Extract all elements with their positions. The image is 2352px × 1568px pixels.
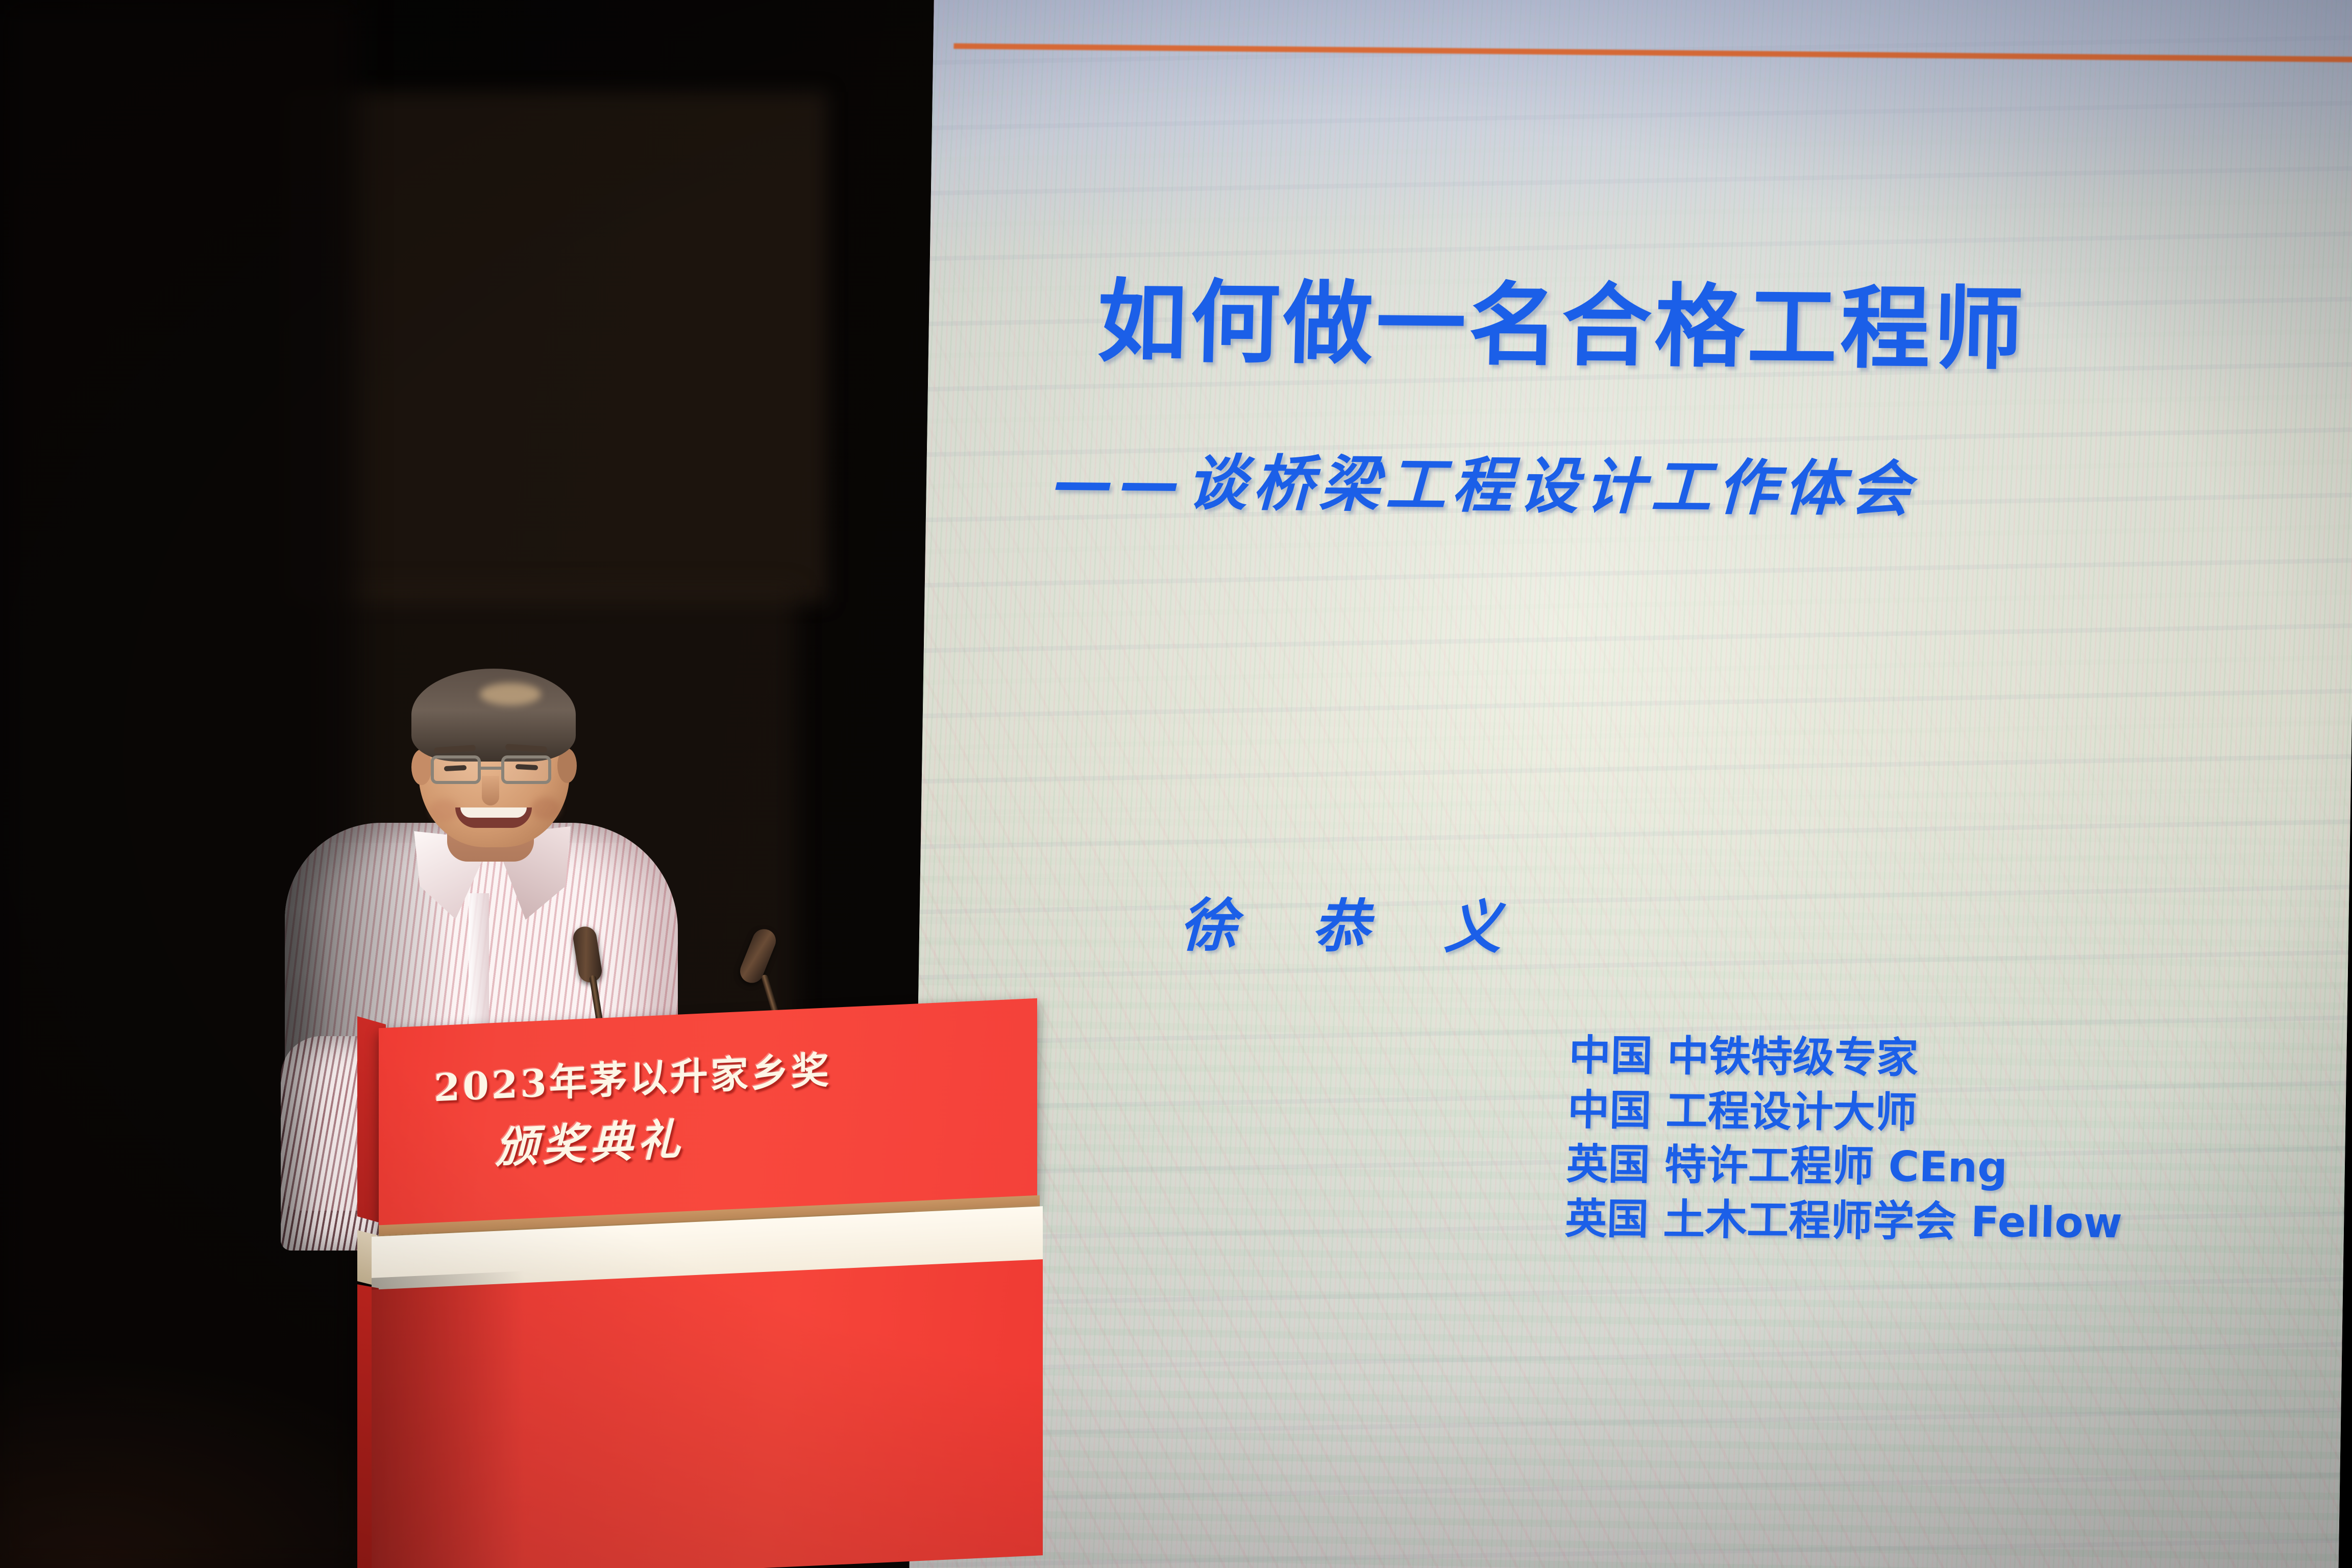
speaker-teeth [460,807,527,818]
speaker-cheek-right [531,797,560,820]
podium-headline: 2023年茅以升家乡奖 [434,1040,831,1112]
podium-signage: 2023年茅以升家乡奖 颁奖典礼 [379,998,1037,1235]
projection-screen: 如何做一名合格工程师 ——谈桥梁工程设计工作体会 徐 恭 义 中国 中铁特级专家… [909,0,2352,1568]
credential-item: 中国 工程设计大师 [1567,1083,2125,1142]
speaker-mouth [455,807,532,828]
podium-subheadline: 颁奖典礼 [495,1105,685,1175]
photo-frame: 如何做一名合格工程师 ——谈桥梁工程设计工作体会 徐 恭 义 中国 中铁特级专家… [0,0,2352,1568]
credential-item: 英国 特许工程师 CEng [1565,1138,2124,1196]
hair-highlight [480,683,541,705]
award-podium: 2023年茅以升家乡奖 颁奖典礼 [357,1013,1036,1568]
slide-title: 如何做一名合格工程师 [1096,249,2028,387]
podium-base-shadow [372,1271,525,1568]
slide-credentials-list: 中国 中铁特级专家 中国 工程设计大师 英国 特许工程师 CEng 英国 土木工… [1564,1029,2127,1251]
credential-item: 中国 中铁特级专家 [1568,1029,2126,1088]
credential-item: 英国 土木工程师学会 Fellow [1564,1192,2123,1251]
backdrop-panel-upper [286,92,827,602]
eyeglasses-bridge [481,767,501,770]
slide-presenter-name: 徐 恭 义 [1179,879,1530,965]
speaker-cheek-left [430,799,459,822]
slide-subtitle: ——谈桥梁工程设计工作体会 [1053,433,1918,528]
slide-content: 如何做一名合格工程师 ——谈桥梁工程设计工作体会 徐 恭 义 中国 中铁特级专家… [909,0,2352,1568]
eyeglasses-lens-left [431,755,481,784]
eyeglasses-lens-right [501,755,551,784]
speaker-nose [482,776,499,805]
